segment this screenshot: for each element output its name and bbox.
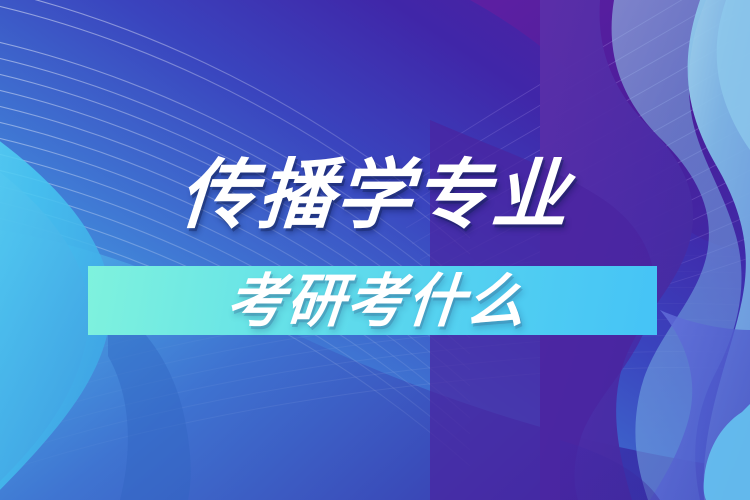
banner-title: 传播学专业 xyxy=(0,152,750,238)
banner-content: 传播学专业 考研考什么 xyxy=(0,0,750,500)
banner-image: 传播学专业 考研考什么 xyxy=(0,0,750,500)
banner-subtitle: 考研考什么 xyxy=(85,266,660,335)
